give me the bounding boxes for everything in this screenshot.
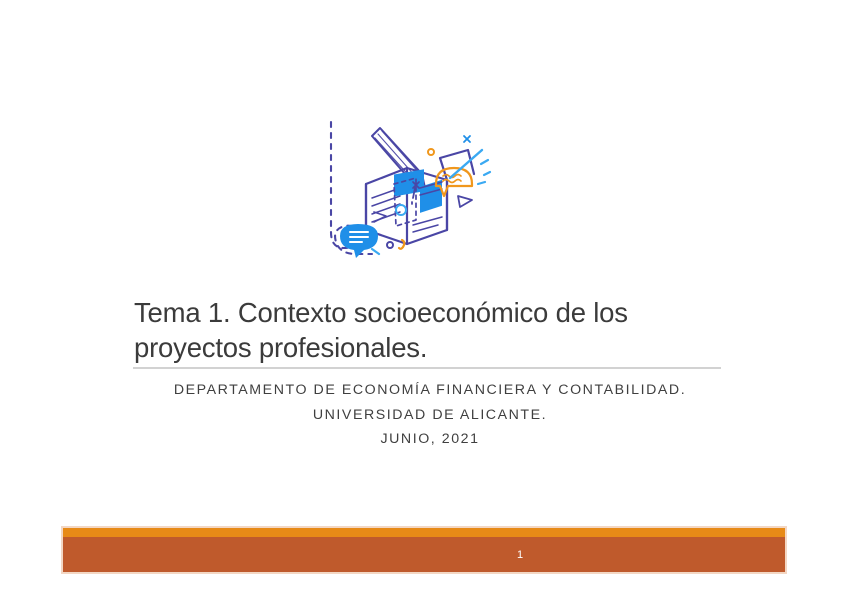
page-title: Tema 1. Contexto socioeconómico de los p…	[134, 296, 724, 365]
slide-canvas: Tema 1. Contexto socioeconómico de los p…	[0, 0, 848, 599]
page-number: 1	[159, 537, 848, 572]
blue-tick-icon	[372, 249, 379, 254]
footer-accent-stripe	[63, 528, 785, 537]
subtitle-block: DEPARTAMENTO DE ECONOMÍA FINANCIERA Y CO…	[120, 378, 740, 452]
title-divider	[133, 367, 721, 369]
circle-mark-icon	[396, 205, 406, 215]
book-left-arrow-icon	[374, 212, 386, 222]
subtitle-line-department: DEPARTAMENTO DE ECONOMÍA FINANCIERA Y CO…	[120, 378, 740, 403]
subtitle-line-university: UNIVERSIDAD DE ALICANTE.	[120, 403, 740, 428]
footer-body: 1	[63, 537, 785, 572]
orange-dot-icon	[428, 149, 434, 155]
x-mark-blue-icon	[464, 136, 470, 142]
footer-bar: 1	[61, 526, 787, 574]
open-book-pencil-illustration	[312, 112, 496, 268]
subtitle-line-date: JUNIO, 2021	[120, 427, 740, 452]
purple-dot-icon	[387, 242, 393, 248]
sparkle-strokes-icon	[478, 160, 490, 184]
triangle-outline-icon	[458, 196, 472, 207]
title-block: Tema 1. Contexto socioeconómico de los p…	[134, 296, 724, 365]
